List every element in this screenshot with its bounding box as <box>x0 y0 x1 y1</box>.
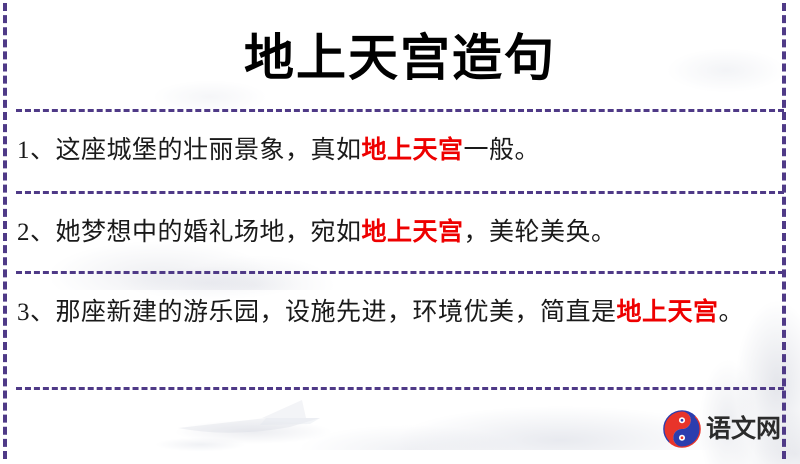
sentence-3-part-a: 那座新建的游乐园，设施先进，环境优美，简直是 <box>56 299 617 326</box>
sentence-3-keyword: 地上天宫 <box>617 299 719 326</box>
sentence-1-keyword: 地上天宫 <box>362 137 464 164</box>
sentence-2-keyword: 地上天宫 <box>362 219 464 246</box>
site-watermark-label: 语文网 <box>706 417 781 442</box>
sentence-row-1: 1、这座城堡的壮丽景象，真如地上天宫一般。 <box>17 130 777 171</box>
site-watermark: 语文网 <box>663 406 789 452</box>
sentence-1-part-b: 一般。 <box>464 137 541 164</box>
sentence-2-marker: 2、 <box>17 219 56 246</box>
taiji-fish-logo-icon <box>663 410 701 448</box>
sentence-row-2: 2、她梦想中的婚礼场地，宛如地上天宫，美轮美奂。 <box>17 212 777 253</box>
sentence-2-part-a: 她梦想中的婚礼场地，宛如 <box>56 219 362 246</box>
sentence-1-part-a: 这座城堡的壮丽景象，真如 <box>56 137 362 164</box>
sentence-3-part-b: 。 <box>719 299 745 326</box>
sentence-3-marker: 3、 <box>17 299 56 326</box>
sentence-list: 1、这座城堡的壮丽景象，真如地上天宫一般。 2、她梦想中的婚礼场地，宛如地上天宫… <box>0 0 800 464</box>
sentence-row-3: 3、那座新建的游乐园，设施先进，环境优美，简直是地上天宫。 <box>17 292 777 333</box>
sentence-2-part-b: ，美轮美奂。 <box>464 219 617 246</box>
sentence-1-marker: 1、 <box>17 137 56 164</box>
slide-canvas: 地上天宫造句 1、这座城堡的壮丽景象，真如地上天宫一般。 2、她梦想中的婚礼场地… <box>0 0 800 464</box>
